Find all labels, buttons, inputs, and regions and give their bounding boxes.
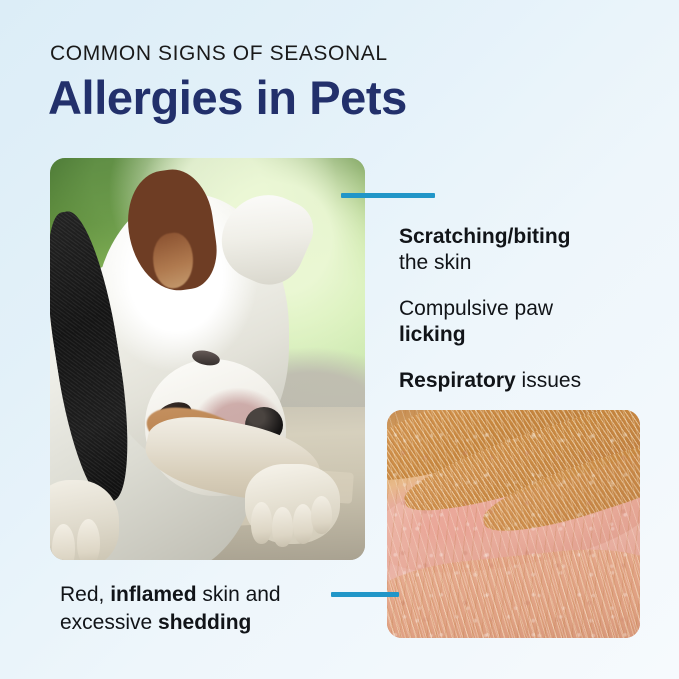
caption-part-2: skin and	[197, 583, 281, 606]
caption-bold-inflamed: inflamed	[110, 583, 196, 606]
symptom-bold-text: Scratching/biting	[399, 225, 571, 248]
caption-part-1: Red,	[60, 583, 110, 606]
symptom-bold-text: licking	[399, 323, 466, 346]
paw-toe	[272, 507, 293, 547]
dog-figure	[50, 158, 365, 560]
sparse-hair-overlay	[387, 410, 640, 638]
page-title: Allergies in Pets	[48, 70, 407, 125]
eyebrow-text: COMMON SIGNS OF SEASONAL	[50, 42, 388, 66]
paw-toe	[311, 496, 332, 535]
infographic-canvas: COMMON SIGNS OF SEASONAL Allergies in Pe…	[0, 0, 679, 679]
symptom-regular-text: Compulsive paw	[399, 297, 553, 320]
bottom-caption: Red, inflamed skin and excessive sheddin…	[60, 581, 360, 638]
symptom-regular-text: issues	[516, 369, 581, 392]
dog-photo	[50, 158, 365, 560]
symptom-item-respiratory: Respiratory issues	[399, 368, 661, 394]
symptom-regular-text: the skin	[399, 251, 471, 274]
caption-part-3: excessive	[60, 611, 158, 634]
symptom-bold-text: Respiratory	[399, 369, 516, 392]
skin-photo	[387, 410, 640, 638]
dog-paw-right	[245, 464, 340, 544]
paw-toe	[52, 524, 75, 560]
paw-toe	[293, 504, 314, 544]
symptom-item-scratching: Scratching/biting the skin	[399, 224, 661, 277]
caption-bold-shedding: shedding	[158, 611, 251, 634]
symptom-list: Scratching/biting the skin Compulsive pa…	[399, 224, 661, 394]
paw-toe	[77, 519, 100, 561]
connector-line-top	[341, 193, 435, 198]
symptom-item-licking: Compulsive paw licking	[399, 296, 661, 349]
paw-toe	[251, 502, 272, 544]
